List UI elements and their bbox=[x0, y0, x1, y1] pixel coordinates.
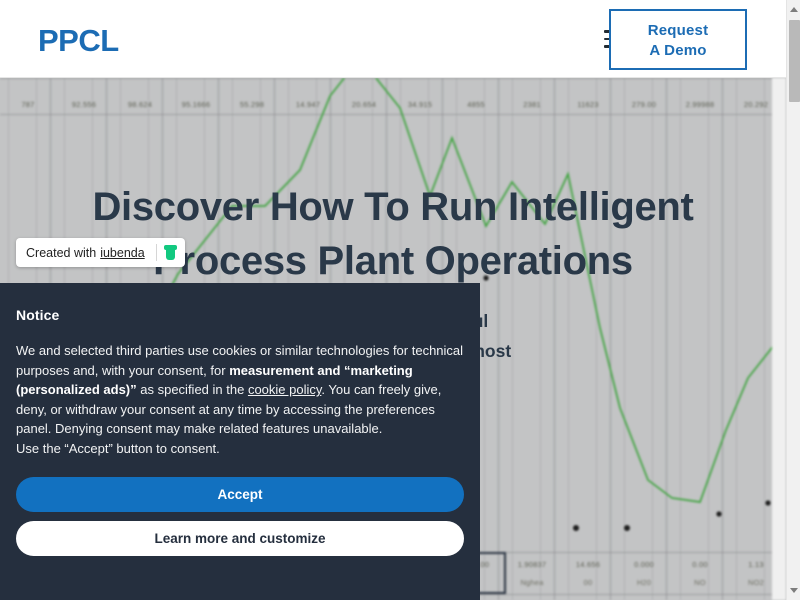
request-demo-line2: A Demo bbox=[611, 41, 745, 61]
consent-text-part2: as specified in the bbox=[137, 382, 248, 397]
brand-logo[interactable]: PPCL bbox=[38, 23, 119, 59]
iubenda-logo-icon bbox=[166, 245, 175, 260]
learn-more-button[interactable]: Learn more and customize bbox=[16, 521, 464, 556]
request-demo-line1: Request bbox=[648, 22, 709, 39]
hero-title-line2: Process Plant Operations bbox=[153, 239, 633, 283]
hero-title-line1: Discover How To Run Intelligent bbox=[92, 185, 693, 229]
iubenda-link[interactable]: iubenda bbox=[100, 246, 145, 260]
iubenda-divider bbox=[156, 244, 157, 261]
accept-button[interactable]: Accept bbox=[16, 477, 464, 512]
page-viewport: 78792.55698.62495.166655.29814.94720.654… bbox=[0, 0, 786, 600]
consent-title: Notice bbox=[16, 307, 464, 323]
iubenda-prefix-label: Created with bbox=[26, 246, 96, 260]
request-demo-button[interactable]: Request A Demo bbox=[609, 9, 747, 70]
page-title: Discover How To Run Intelligent Process … bbox=[0, 180, 786, 288]
cookie-policy-link[interactable]: cookie policy bbox=[248, 382, 321, 397]
cookie-consent-dialog: Notice We and selected third parties use… bbox=[0, 283, 480, 600]
vertical-scrollbar[interactable] bbox=[786, 0, 800, 600]
site-header: PPCL Request A Demo bbox=[0, 0, 786, 78]
browser-page: 78792.55698.62495.166655.29814.94720.654… bbox=[0, 0, 800, 600]
scroll-down-icon[interactable] bbox=[787, 583, 800, 597]
scrollbar-thumb[interactable] bbox=[789, 20, 800, 102]
consent-text-part4: Use the “Accept” button to consent. bbox=[16, 439, 464, 459]
scroll-up-icon[interactable] bbox=[787, 2, 800, 16]
consent-body-text: We and selected third parties use cookie… bbox=[16, 341, 464, 459]
iubenda-badge[interactable]: Created with iubenda bbox=[16, 238, 185, 267]
consent-actions: Accept Learn more and customize bbox=[16, 477, 464, 556]
